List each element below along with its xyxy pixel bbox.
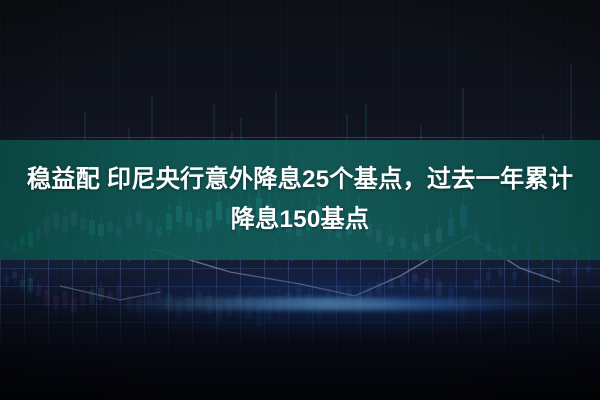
promo-banner-image: 稳益配 印尼央行意外降息25个基点，过去一年累计 降息150基点 — [0, 0, 600, 400]
headline-line-1: 稳益配 印尼央行意外降息25个基点，过去一年累计 — [27, 163, 573, 197]
headline-line-2: 降息150基点 — [231, 203, 370, 237]
headline-text-block: 稳益配 印尼央行意外降息25个基点，过去一年累计 降息150基点 — [0, 140, 600, 260]
